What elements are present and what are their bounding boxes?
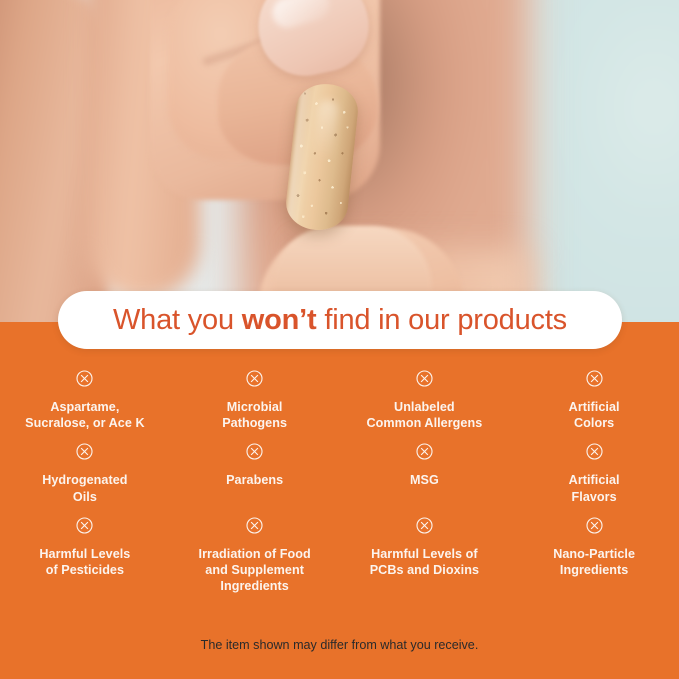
- excluded-ingredient-item: Harmful Levelsof Pesticides: [0, 517, 170, 595]
- circle-x-icon: [76, 517, 93, 539]
- excluded-ingredient-label: ArtificialFlavors: [569, 472, 620, 504]
- circle-x-icon: [586, 370, 603, 392]
- excluded-ingredient-label: Aspartame,Sucralose, or Ace K: [25, 399, 144, 431]
- circle-x-icon: [416, 370, 433, 392]
- callout-panel: Aspartame,Sucralose, or Ace KMicrobialPa…: [0, 322, 679, 679]
- excluded-ingredient-label: MSG: [410, 472, 439, 488]
- circle-x-icon: [416, 443, 433, 465]
- excluded-ingredient-item: Aspartame,Sucralose, or Ace K: [0, 370, 170, 431]
- circle-x-icon: [246, 517, 263, 539]
- circle-x-icon: [586, 517, 603, 539]
- excluded-ingredient-label: Parabens: [226, 472, 283, 488]
- excluded-ingredient-item: HydrogenatedOils: [0, 443, 170, 504]
- excluded-ingredient-label: HydrogenatedOils: [42, 472, 127, 504]
- title-text-emphasis: won’t: [242, 304, 317, 336]
- disclaimer-text: The item shown may differ from what you …: [0, 638, 679, 652]
- excluded-ingredient-item: Irradiation of Foodand SupplementIngredi…: [170, 517, 340, 595]
- excluded-ingredient-item: Harmful Levels ofPCBs and Dioxins: [340, 517, 510, 595]
- circle-x-icon: [246, 370, 263, 392]
- circle-x-icon: [76, 443, 93, 465]
- circle-x-icon: [586, 443, 603, 465]
- excluded-ingredient-item: UnlabeledCommon Allergens: [340, 370, 510, 431]
- page-title: What you won’t find in our products: [113, 304, 567, 337]
- excluded-ingredient-label: ArtificialColors: [569, 399, 620, 431]
- excluded-ingredient-label: MicrobialPathogens: [222, 399, 287, 431]
- excluded-ingredient-label: Harmful Levels ofPCBs and Dioxins: [370, 546, 479, 578]
- product-photo: [0, 0, 679, 326]
- excluded-ingredient-item: Parabens: [170, 443, 340, 504]
- excluded-ingredient-label: UnlabeledCommon Allergens: [366, 399, 482, 431]
- excluded-ingredient-item: ArtificialFlavors: [509, 443, 679, 504]
- circle-x-icon: [416, 517, 433, 539]
- title-text-post: find in our products: [316, 304, 567, 336]
- excluded-ingredient-item: Nano-ParticleIngredients: [509, 517, 679, 595]
- excluded-ingredient-item: ArtificialColors: [509, 370, 679, 431]
- excluded-ingredients-grid: Aspartame,Sucralose, or Ace KMicrobialPa…: [0, 370, 679, 594]
- circle-x-icon: [246, 443, 263, 465]
- product-callout-graphic: Aspartame,Sucralose, or Ace KMicrobialPa…: [0, 0, 679, 679]
- excluded-ingredient-label: Nano-ParticleIngredients: [553, 546, 635, 578]
- title-text-pre: What you: [113, 304, 242, 336]
- excluded-ingredient-item: MSG: [340, 443, 510, 504]
- excluded-ingredient-label: Irradiation of Foodand SupplementIngredi…: [199, 546, 311, 595]
- excluded-ingredient-label: Harmful Levelsof Pesticides: [39, 546, 130, 578]
- excluded-ingredient-item: MicrobialPathogens: [170, 370, 340, 431]
- callout-title-pill: What you won’t find in our products: [58, 291, 622, 349]
- circle-x-icon: [76, 370, 93, 392]
